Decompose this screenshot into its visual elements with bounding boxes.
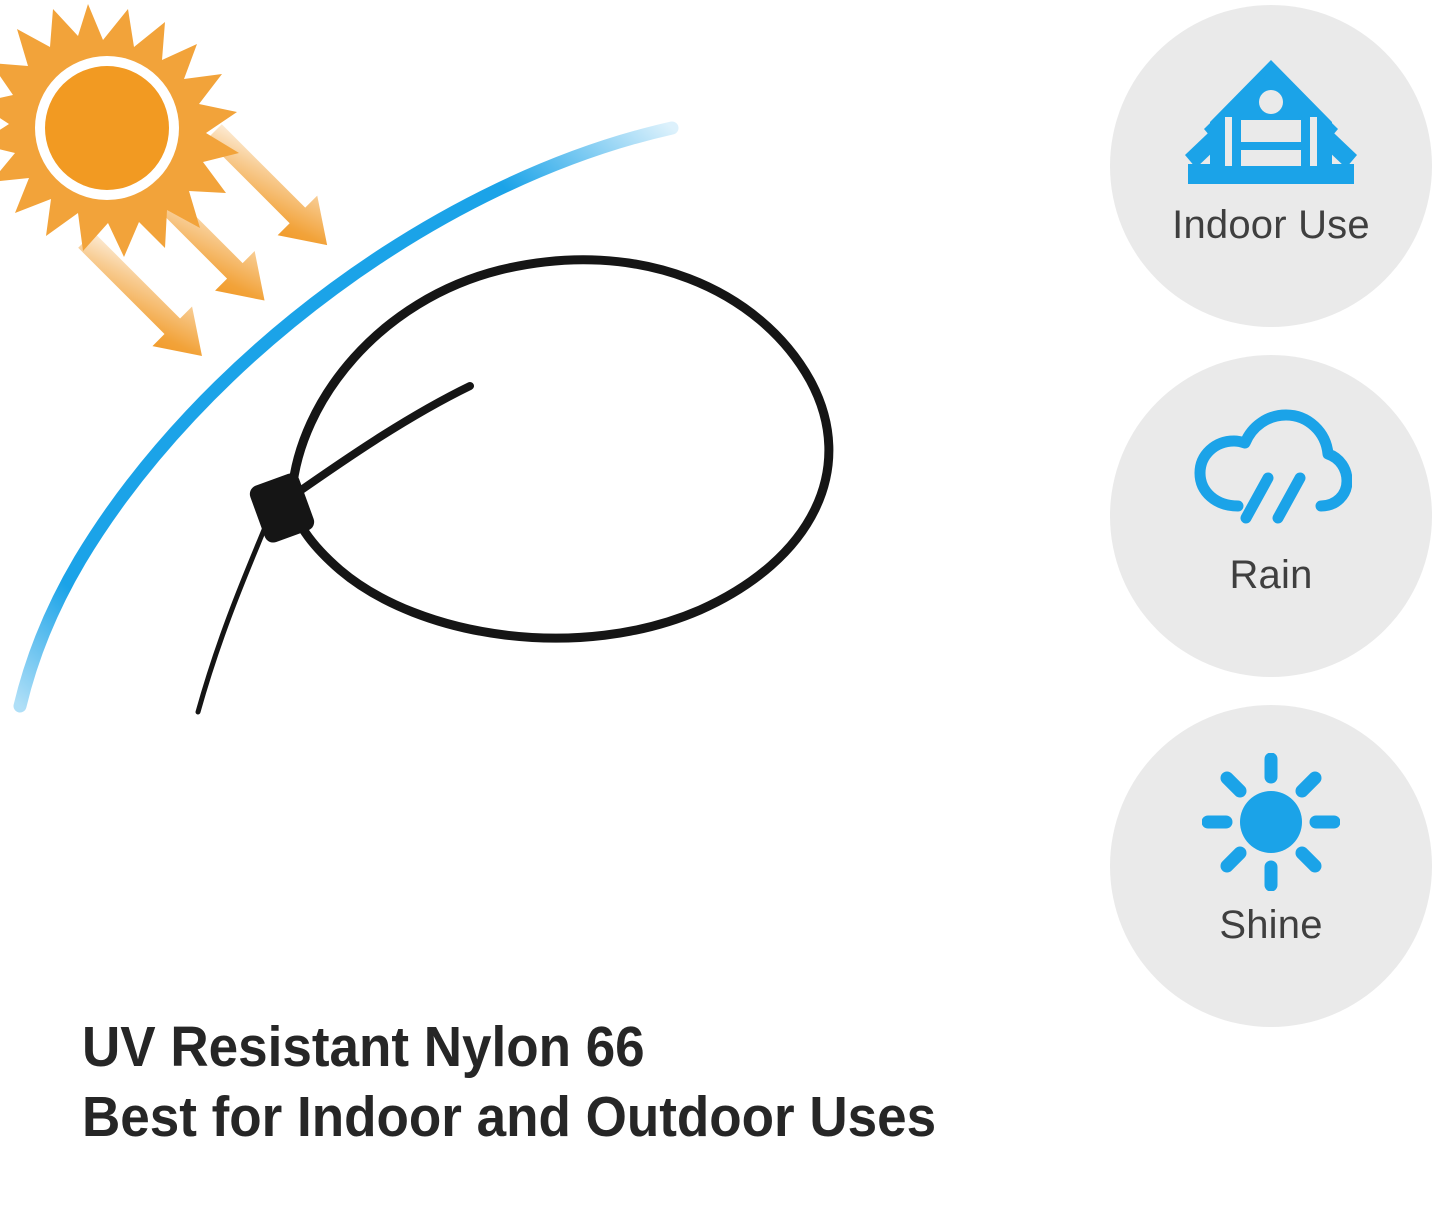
feature-badge-column: Indoor Use Rain [1110, 5, 1432, 1025]
headline-line-2: Best for Indoor and Outdoor Uses [82, 1082, 1012, 1152]
feature-label: Indoor Use [1172, 203, 1370, 248]
feature-label: Rain [1229, 553, 1312, 598]
feature-label: Shine [1219, 903, 1322, 948]
sun-icon [1202, 751, 1340, 893]
sun-burst-icon [0, 4, 239, 257]
rain-cloud-icon [1190, 401, 1352, 543]
product-infographic: Indoor Use Rain [0, 0, 1432, 1211]
uv-resistance-illustration [0, 0, 1060, 980]
house-icon [1182, 51, 1360, 193]
headline-block: UV Resistant Nylon 66 Best for Indoor an… [82, 1012, 1082, 1152]
feature-badge-rain[interactable]: Rain [1110, 355, 1432, 677]
feature-badge-shine[interactable]: Shine [1110, 705, 1432, 1027]
feature-badge-indoor-use[interactable]: Indoor Use [1110, 5, 1432, 327]
headline-line-1: UV Resistant Nylon 66 [82, 1012, 1012, 1082]
